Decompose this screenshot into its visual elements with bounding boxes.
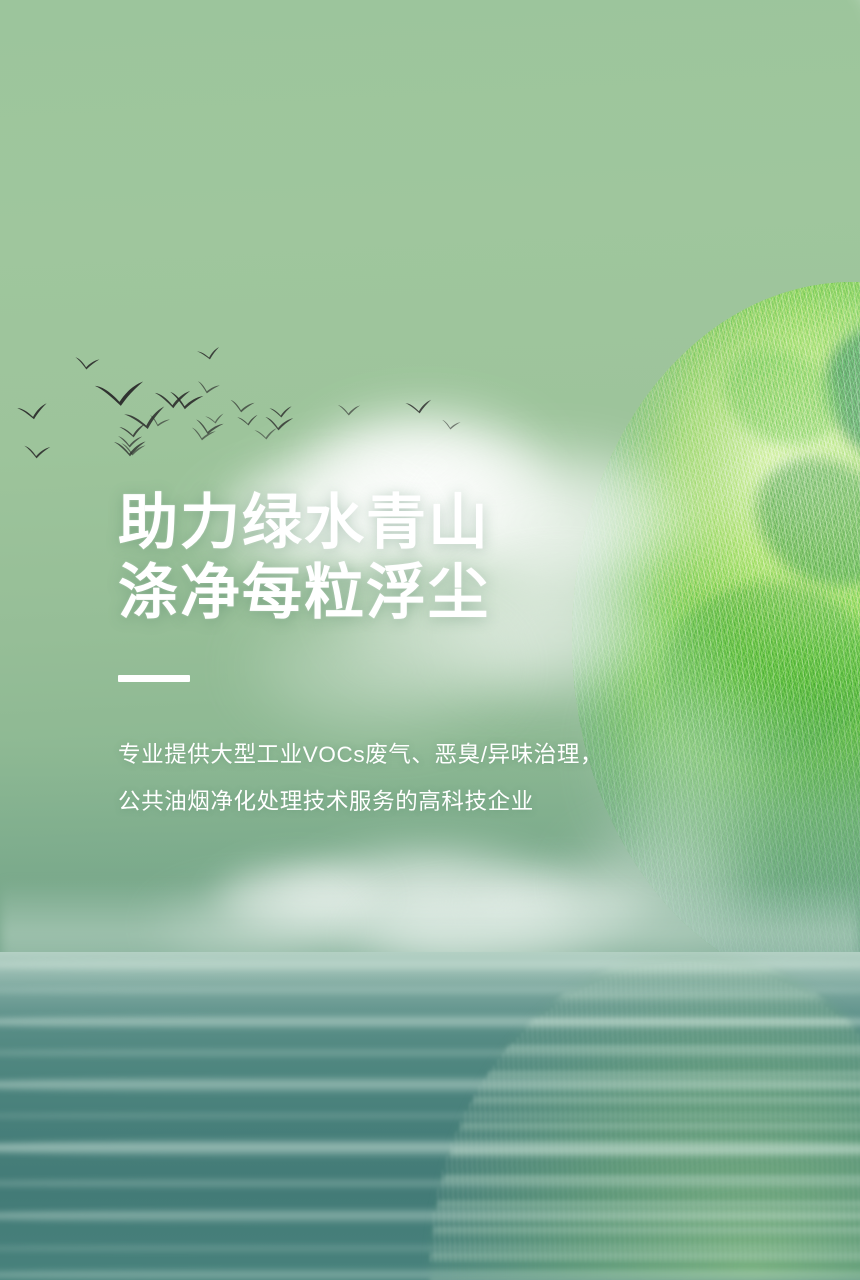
water-ripple (0, 1076, 860, 1094)
water-ripple (0, 1048, 860, 1058)
headline-line-2: 涤净每粒浮尘 (118, 558, 738, 628)
hero-banner: 助力绿水青山 涤净每粒浮尘 专业提供大型工业VOCs废气、恶臭/异味治理， 公共… (0, 0, 860, 1280)
water-ripple (0, 1112, 860, 1120)
water-surface (0, 952, 860, 1280)
water-ripple (0, 986, 860, 995)
headline-divider (118, 675, 190, 682)
water-ripple (0, 1208, 860, 1224)
subtitle-line-1: 专业提供大型工业VOCs废气、恶臭/异味治理， (118, 735, 738, 776)
water-ripple (0, 1244, 860, 1253)
water-ripple (0, 958, 860, 972)
headline-line-1: 助力绿水青山 (118, 488, 738, 558)
water-ripple (0, 1178, 860, 1189)
water-ripple (0, 1014, 860, 1030)
subtitle-line-2: 公共油烟净化处理技术服务的高科技企业 (118, 782, 738, 823)
water-ripple (0, 1138, 860, 1158)
hero-copy: 助力绿水青山 涤净每粒浮尘 专业提供大型工业VOCs废气、恶臭/异味治理， 公共… (118, 488, 738, 823)
water-ripple (0, 1268, 860, 1280)
